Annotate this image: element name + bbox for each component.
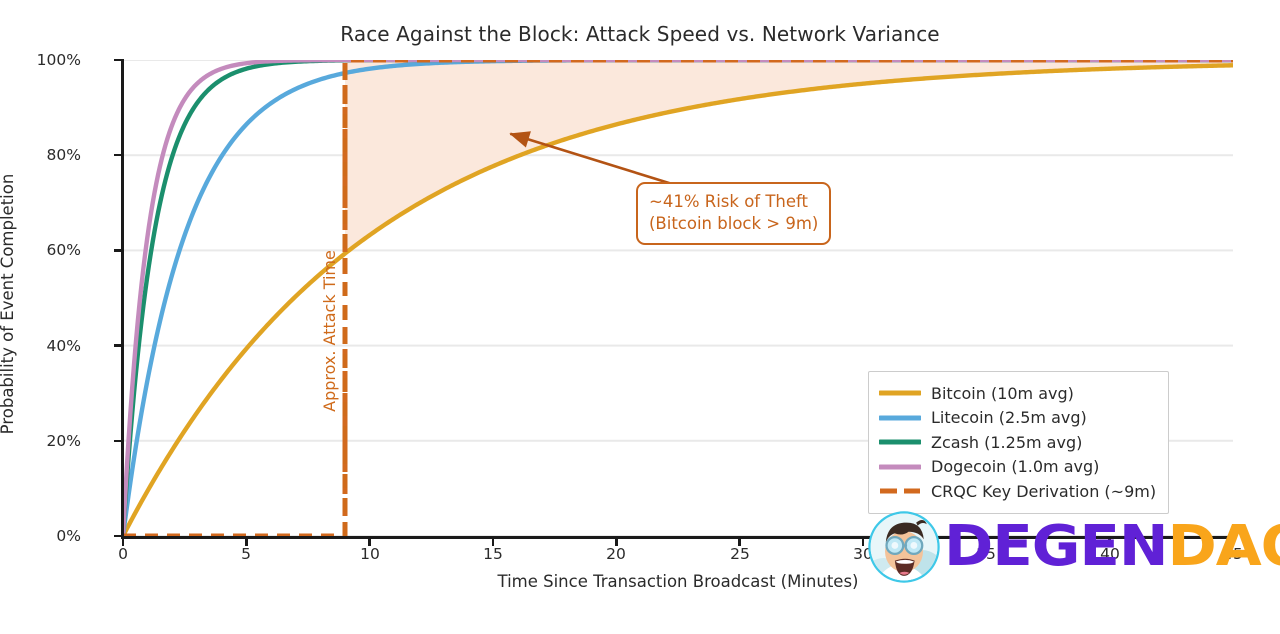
x-tick-label: 0 — [93, 545, 153, 563]
legend-swatch-icon — [879, 432, 921, 452]
legend-swatch-icon — [879, 457, 921, 477]
y-tick-mark — [114, 440, 123, 443]
legend-item[interactable]: CRQC Key Derivation (~9m) — [879, 479, 1156, 504]
mad-scientist-avatar-icon — [866, 509, 942, 585]
x-tick-label: 20 — [586, 545, 646, 563]
watermark-degen: DEGEN — [944, 514, 1167, 579]
x-tick-mark — [245, 537, 248, 546]
legend-swatch-icon — [879, 383, 921, 403]
watermark-dao: DAO! — [1167, 514, 1280, 579]
x-tick-mark — [738, 537, 741, 546]
legend-label: Dogecoin (1.0m avg) — [931, 457, 1099, 476]
legend-swatch-icon — [879, 481, 921, 501]
legend-label: Litecoin (2.5m avg) — [931, 408, 1087, 427]
legend-item[interactable]: Zcash (1.25m avg) — [879, 430, 1156, 455]
legend-item[interactable]: Litecoin (2.5m avg) — [879, 406, 1156, 431]
degendao-watermark: DEGENDAO! — [866, 505, 1280, 589]
x-tick-mark — [122, 537, 125, 546]
x-tick-label: 25 — [710, 545, 770, 563]
chart-figure: Race Against the Block: Attack Speed vs.… — [0, 0, 1280, 634]
attack-time-label: Approx. Attack Time — [320, 181, 342, 481]
legend-label: Zcash (1.25m avg) — [931, 433, 1082, 452]
x-tick-mark — [492, 537, 495, 546]
x-tick-mark — [368, 537, 371, 546]
legend-swatch-icon — [879, 408, 921, 428]
y-tick-mark — [114, 344, 123, 347]
legend-item[interactable]: Dogecoin (1.0m avg) — [879, 455, 1156, 480]
x-tick-mark — [862, 537, 865, 546]
chart-title: Race Against the Block: Attack Speed vs.… — [0, 22, 1280, 46]
annotation-line-2: (Bitcoin block > 9m) — [649, 213, 818, 235]
y-tick-mark — [114, 154, 123, 157]
y-tick-mark — [114, 59, 123, 62]
y-axis-spine — [121, 59, 124, 537]
chart-legend[interactable]: Bitcoin (10m avg)Litecoin (2.5m avg)Zcas… — [868, 371, 1169, 514]
legend-item[interactable]: Bitcoin (10m avg) — [879, 381, 1156, 406]
y-axis-label: Probability of Event Completion — [0, 0, 24, 621]
legend-label: Bitcoin (10m avg) — [931, 384, 1074, 403]
annotation-line-1: ~41% Risk of Theft — [649, 191, 818, 213]
legend-label: CRQC Key Derivation (~9m) — [931, 482, 1156, 501]
x-tick-mark — [615, 537, 618, 546]
y-tick-mark — [114, 249, 123, 252]
x-tick-label: 5 — [216, 545, 276, 563]
x-tick-label: 15 — [463, 545, 523, 563]
risk-annotation: ~41% Risk of Theft (Bitcoin block > 9m) — [636, 182, 831, 245]
x-tick-label: 10 — [340, 545, 400, 563]
watermark-text: DEGENDAO! — [944, 519, 1280, 575]
